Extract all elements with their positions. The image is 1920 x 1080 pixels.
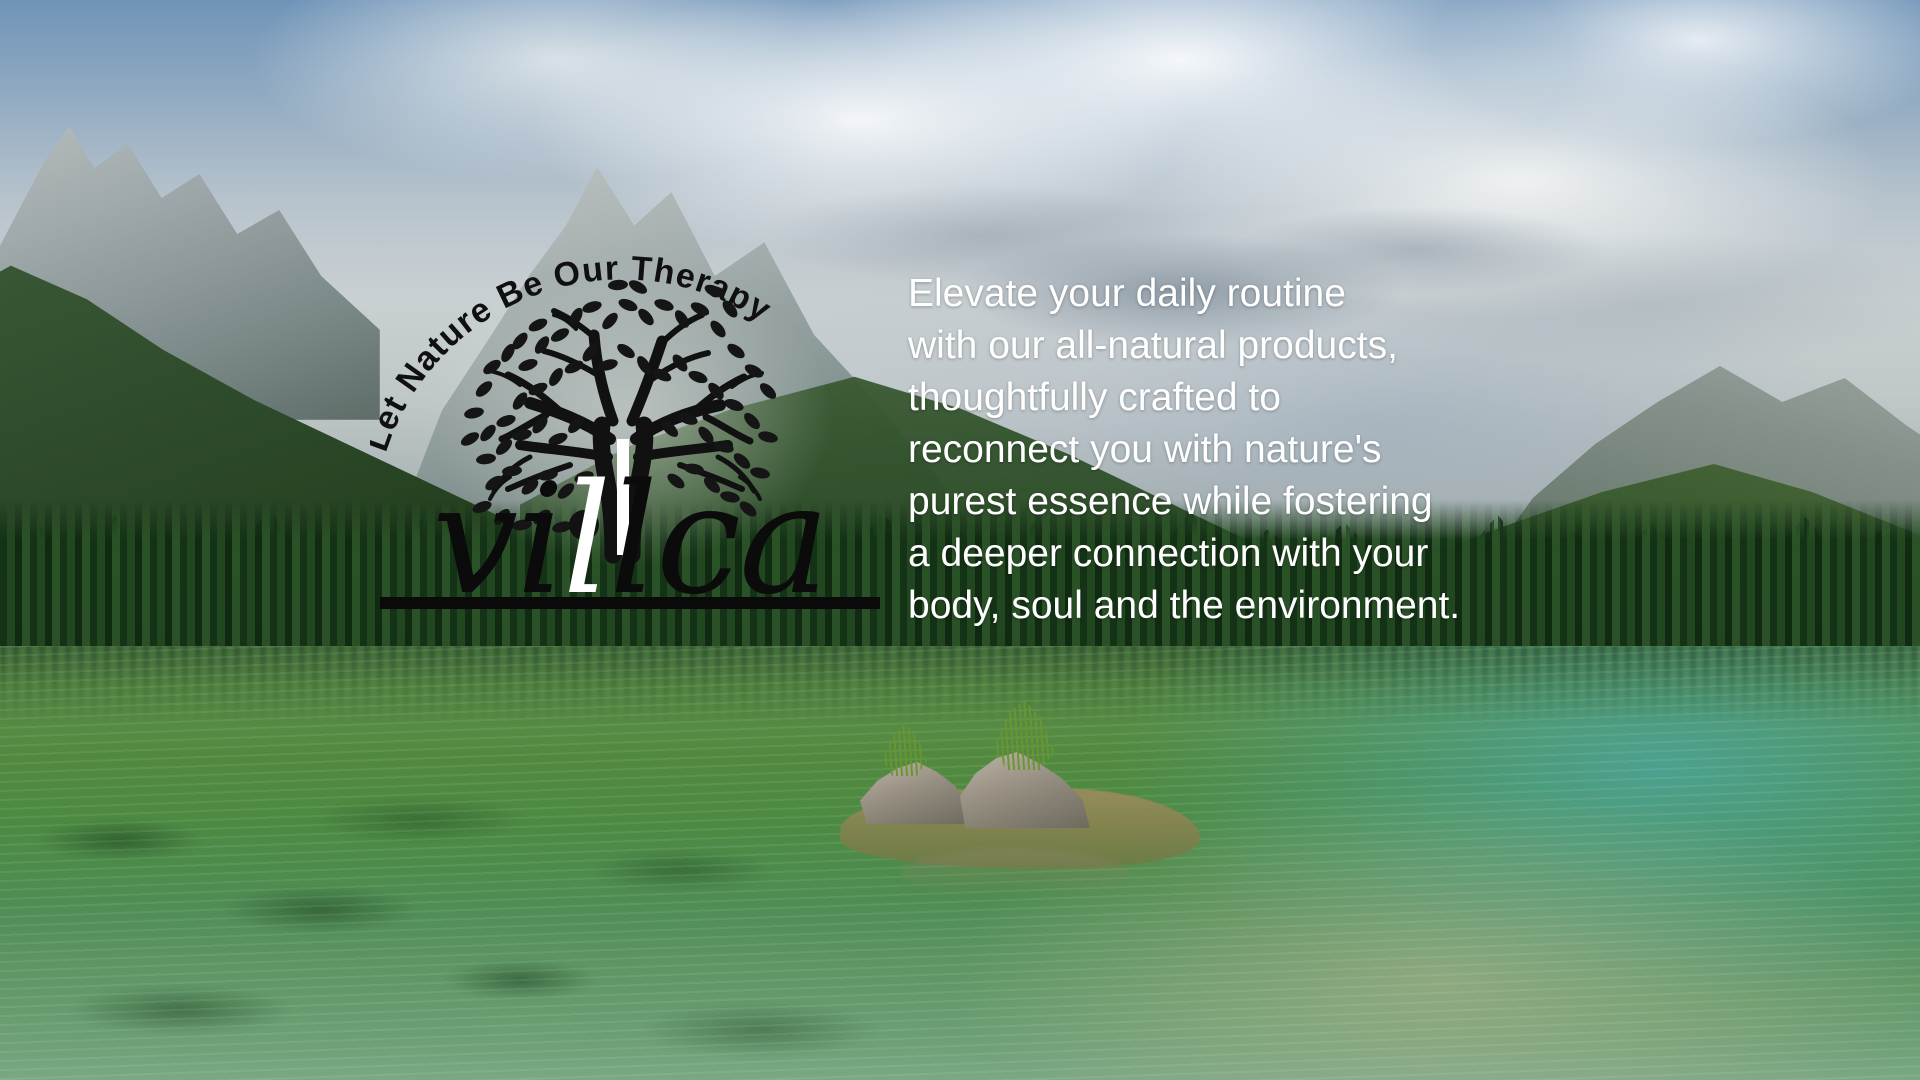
- hero-description-line-1: Elevate your daily routine: [908, 268, 1528, 320]
- hero-description-line-3: thoughtfully crafted to: [908, 372, 1528, 424]
- island-reflection: [900, 848, 1130, 900]
- hero-description: Elevate your daily routine with our all-…: [908, 268, 1528, 632]
- hero-description-line-4: reconnect you with nature's: [908, 424, 1528, 476]
- hero-description-line-6: a deeper connection with your: [908, 528, 1528, 580]
- rock-island: [840, 730, 1200, 870]
- brand-wordmark: villca: [370, 465, 890, 615]
- logo-underline: [380, 597, 880, 609]
- hero-banner: Let Nature Be Our Therapy: [0, 0, 1920, 1080]
- hero-description-line-5: purest essence while fostering: [908, 476, 1528, 528]
- hero-description-line-7: body, soul and the environment.: [908, 580, 1528, 632]
- hero-description-line-2: with our all-natural products,: [908, 320, 1528, 372]
- brand-logo[interactable]: Let Nature Be Our Therapy: [370, 225, 890, 645]
